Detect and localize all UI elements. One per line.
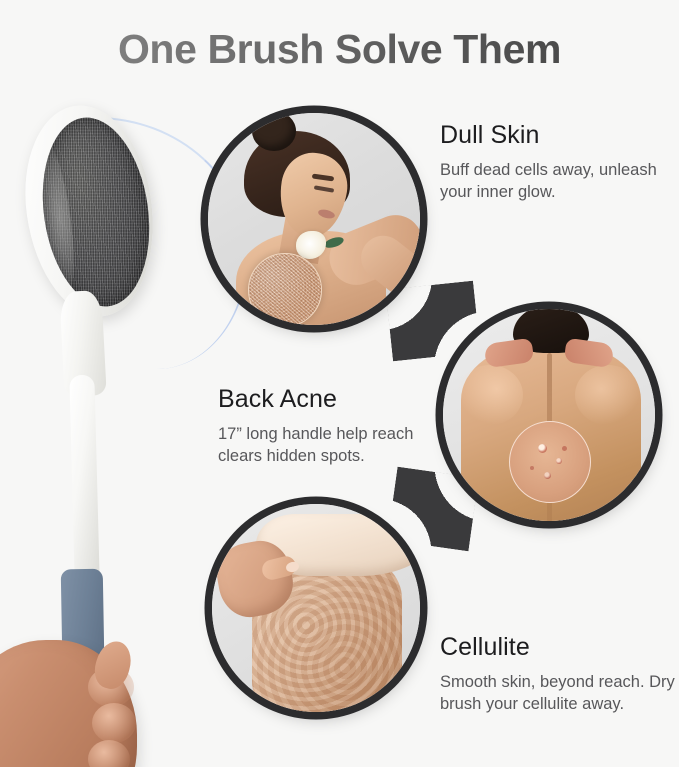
pimple xyxy=(538,444,547,453)
photo-circle-dull-skin xyxy=(208,113,420,325)
pimple xyxy=(562,446,567,451)
feature-block-back-acne: Back Acne 17” long handle help reach cle… xyxy=(218,386,450,467)
product-infographic: One Brush Solve Them xyxy=(0,0,679,767)
feature-block-cellulite: Cellulite Smooth skin, beyond reach. Dry… xyxy=(440,634,679,715)
feature-body-dull-skin: Buff dead cells away, unleash your inner… xyxy=(440,159,676,203)
photo-circle-back-acne xyxy=(443,309,655,521)
photo-circle-cellulite xyxy=(212,504,420,712)
shoulder-left xyxy=(457,365,523,425)
pimple xyxy=(544,472,551,479)
shoulder-right xyxy=(575,365,641,425)
skin-texture-zoom-circle xyxy=(248,253,322,325)
feature-heading-text: Back Acne xyxy=(218,385,337,413)
feature-body-back-acne: 17” long handle help reach clears hidden… xyxy=(218,423,450,467)
pimple xyxy=(530,466,534,470)
feature-heading-cellulite: Cellulite xyxy=(440,634,530,662)
feature-body-cellulite: Smooth skin, beyond reach. Dry brush you… xyxy=(440,671,679,715)
feature-heading-text: Dull Skin xyxy=(440,121,540,149)
feature-heading-dull-skin: Dull Skin xyxy=(440,122,540,150)
feature-block-dull-skin: Dull Skin Buff dead cells away, unleash … xyxy=(440,122,676,203)
acne-zoom-circle xyxy=(509,421,591,503)
pimple xyxy=(556,458,562,464)
feature-heading-back-acne: Back Acne xyxy=(218,386,337,414)
feature-heading-text: Cellulite xyxy=(440,633,530,661)
